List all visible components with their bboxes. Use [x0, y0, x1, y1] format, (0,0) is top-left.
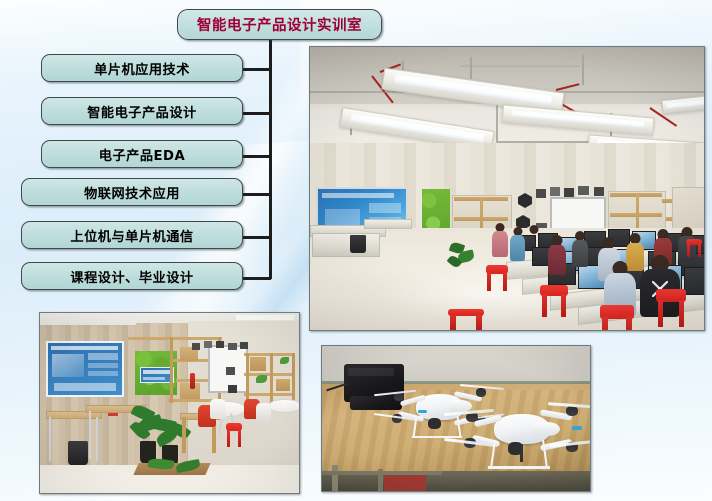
course-box-3[interactable]: 电子产品EDA: [41, 140, 243, 168]
course-box-5[interactable]: 上位机与单片机通信: [21, 221, 243, 249]
course-label-1: 单片机应用技术: [94, 59, 190, 78]
course-label-3: 电子产品EDA: [99, 145, 185, 164]
connector-branch-5: [243, 236, 271, 239]
page-title: 智能电子产品设计实训室: [177, 9, 382, 40]
photo-computer-lab-classroom: [309, 46, 705, 331]
connector-branch-1: [243, 68, 271, 71]
connector-branch-4: [243, 193, 271, 196]
photo-quadcopter-drones: [321, 345, 591, 492]
course-label-4: 物联网技术应用: [84, 183, 180, 202]
connector-trunk: [269, 39, 272, 279]
connector-branch-3: [243, 155, 271, 158]
course-box-2[interactable]: 智能电子产品设计: [41, 97, 243, 125]
page-title-label: 智能电子产品设计实训室: [197, 14, 362, 35]
connector-branch-6: [243, 277, 271, 280]
connector-branch-2: [243, 112, 271, 115]
slide-canvas: 智能电子产品设计实训室 单片机应用技术 智能电子产品设计 电子产品EDA 物联网…: [0, 0, 712, 501]
course-box-4[interactable]: 物联网技术应用: [21, 178, 243, 206]
course-box-6[interactable]: 课程设计、毕业设计: [21, 262, 243, 290]
course-label-5: 上位机与单片机通信: [70, 226, 193, 245]
course-label-2: 智能电子产品设计: [87, 102, 197, 121]
course-box-1[interactable]: 单片机应用技术: [41, 54, 243, 82]
photo-innovation-lounge: [39, 312, 300, 494]
course-label-6: 课程设计、毕业设计: [70, 267, 193, 286]
